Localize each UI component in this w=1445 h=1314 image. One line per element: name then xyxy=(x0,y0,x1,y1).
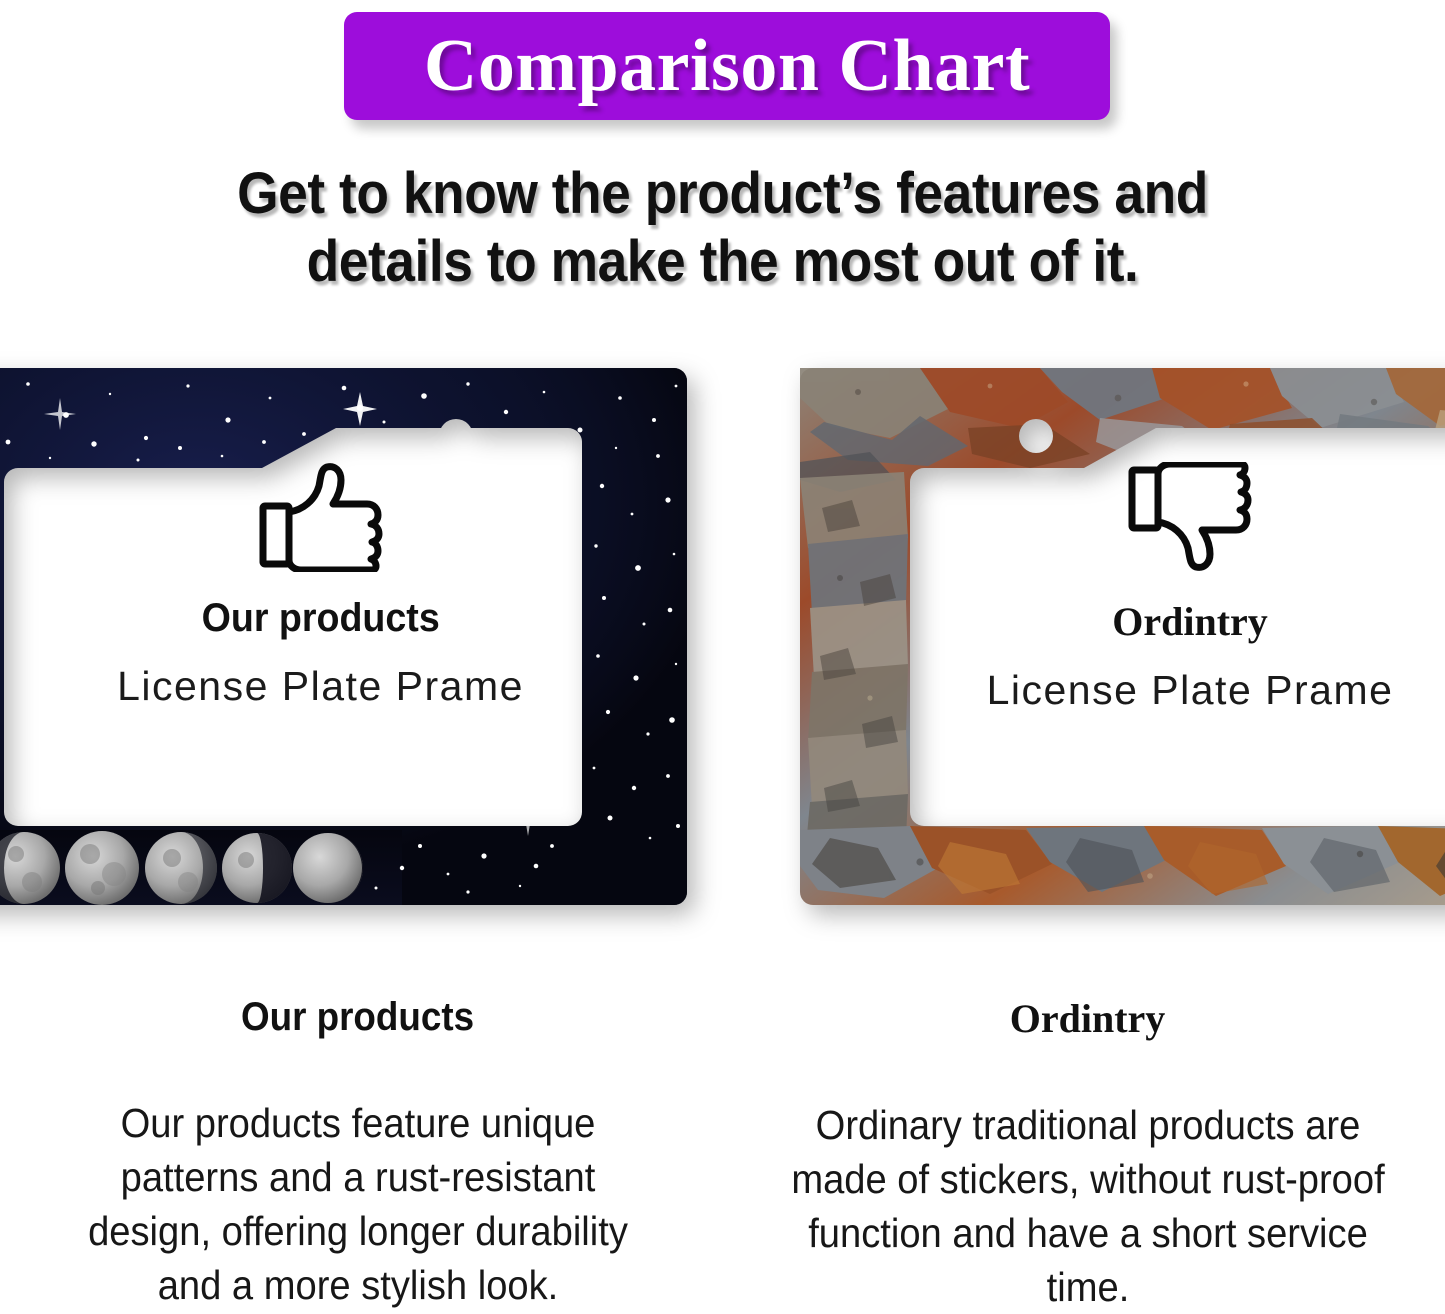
rusted-license-plate-frame xyxy=(800,368,1445,905)
frame-body xyxy=(800,368,1445,905)
description-column-ordinary: Ordintry Ordinary traditional products a… xyxy=(730,995,1445,1314)
product-frame-ordinary xyxy=(800,368,1445,905)
column-heading-ours: Our products xyxy=(29,995,687,1040)
page-title: Comparison Chart xyxy=(424,29,1030,103)
frame-body xyxy=(0,368,687,905)
subtitle-line-1: Get to know the product’s features and xyxy=(58,160,1387,228)
product-frame-ours xyxy=(0,368,687,905)
column-body-ordinary: Ordinary traditional products are made o… xyxy=(790,1098,1385,1314)
moon-phase-strip xyxy=(0,830,402,905)
starfield-license-plate-frame xyxy=(0,368,687,905)
column-body-ours: Our products feature unique patterns and… xyxy=(60,1096,655,1312)
column-heading-ordinary: Ordintry xyxy=(730,995,1445,1042)
subtitle: Get to know the product’s features and d… xyxy=(0,160,1445,296)
title-banner: Comparison Chart xyxy=(344,12,1110,120)
subtitle-line-2: details to make the most out of it. xyxy=(58,228,1387,296)
description-column-ours: Our products Our products feature unique… xyxy=(0,995,715,1312)
